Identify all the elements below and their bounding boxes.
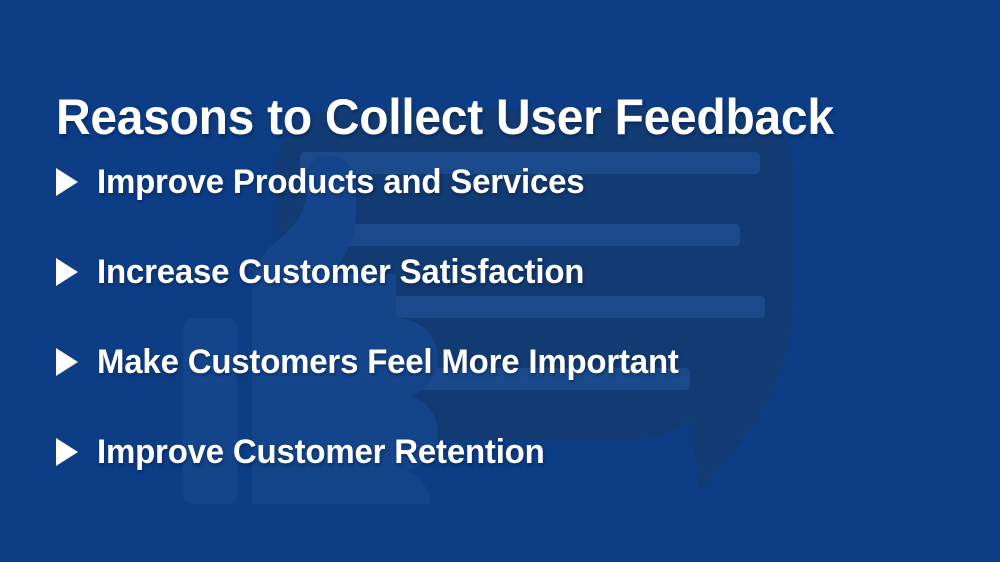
triangle-right-icon bbox=[56, 168, 78, 196]
slide-content: Reasons to Collect User Feedback Improve… bbox=[0, 0, 1000, 562]
list-item-label: Increase Customer Satisfaction bbox=[97, 252, 584, 292]
bullet-list: Improve Products and Services Increase C… bbox=[56, 162, 956, 522]
page-title: Reasons to Collect User Feedback bbox=[56, 90, 834, 144]
list-item-label: Improve Customer Retention bbox=[97, 432, 545, 472]
list-item: Improve Customer Retention bbox=[56, 432, 956, 522]
triangle-right-icon bbox=[56, 438, 78, 466]
list-item-label: Improve Products and Services bbox=[97, 162, 584, 202]
list-item: Improve Products and Services bbox=[56, 162, 956, 252]
list-item-label: Make Customers Feel More Important bbox=[97, 342, 679, 382]
list-item: Increase Customer Satisfaction bbox=[56, 252, 956, 342]
slide-canvas: Reasons to Collect User Feedback Improve… bbox=[0, 0, 1000, 562]
list-item: Make Customers Feel More Important bbox=[56, 342, 956, 432]
triangle-right-icon bbox=[56, 258, 78, 286]
triangle-right-icon bbox=[56, 348, 78, 376]
